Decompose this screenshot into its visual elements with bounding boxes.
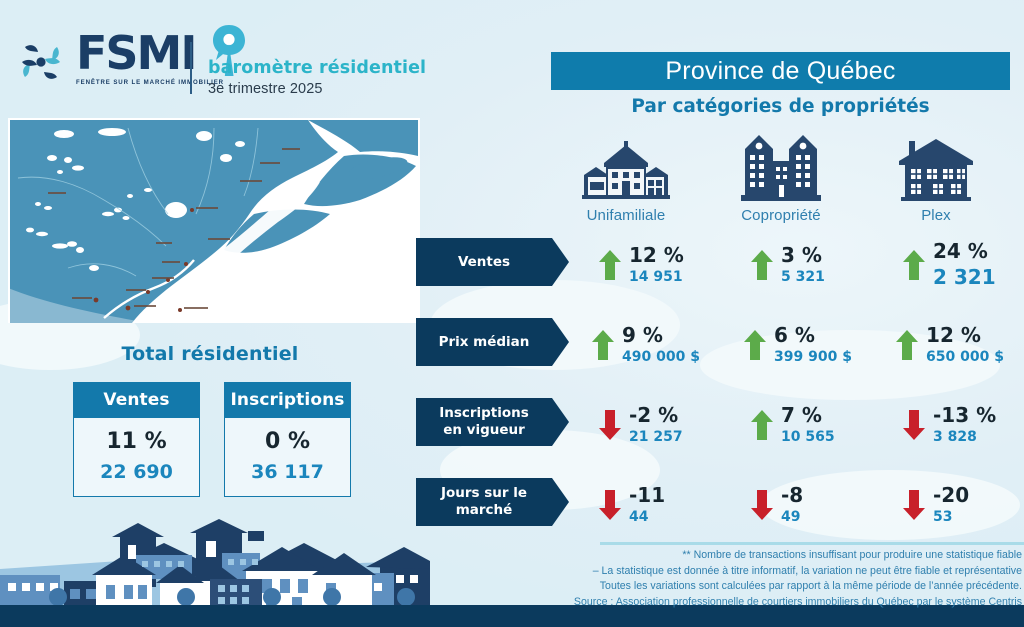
metric-cell: 24 % 2 321: [875, 238, 1024, 292]
metric-label-tag: Jours sur le marché: [416, 478, 552, 526]
metric-value: 5 321: [781, 269, 845, 285]
metric-label-tag: Inscriptions en vigueur: [416, 398, 552, 446]
footnote-line: ** Nombre de transactions insuffisant po…: [534, 548, 1022, 564]
total-card-percent: 0 %: [225, 429, 350, 454]
total-card-percent: 11 %: [74, 429, 199, 454]
footnote-line: – La statistique est donnée à titre info…: [534, 564, 1022, 580]
metric-percent: -13 %: [933, 405, 997, 426]
report-name: baromètre résidentiel: [208, 58, 426, 78]
metric-value: 44: [629, 509, 693, 525]
metric-cell: -13 % 3 828: [875, 398, 1024, 452]
footnotes: ** Nombre de transactions insuffisant po…: [534, 548, 1024, 611]
total-card-value: 36 117: [225, 461, 350, 483]
category-copropriete: Copropriété: [706, 131, 856, 224]
metric-value: 399 900 $: [774, 349, 852, 365]
category-unifamiliale: Unifamiliale: [551, 131, 701, 224]
metric-cell: -8 49: [723, 478, 873, 532]
metric-label: Prix médian: [439, 334, 530, 351]
arrow-up-icon: [751, 410, 773, 440]
total-residential-cards: Ventes 11 % 22 690 Inscriptions 0 % 36 1…: [73, 382, 351, 497]
metric-value: 21 257: [629, 429, 693, 445]
metric-percent: 12 %: [629, 245, 693, 266]
metric-cell: -20 53: [875, 478, 1024, 532]
report-period: 3e trimestre 2025: [208, 81, 426, 97]
category-label: Copropriété: [706, 207, 856, 224]
metric-percent: -8: [781, 485, 845, 506]
metric-cell: -11 44: [571, 478, 721, 532]
arrow-down-icon: [903, 410, 925, 440]
metric-label-tag: Ventes: [416, 238, 552, 286]
logo-wordmark: FSMI: [76, 30, 224, 76]
metric-percent: 24 %: [933, 241, 997, 262]
category-header-row: Unifamiliale: [551, 131, 1024, 226]
metric-label: Jours sur le marché: [434, 485, 534, 519]
metric-value: 650 000 $: [926, 349, 1004, 365]
arrow-up-icon: [592, 330, 614, 360]
arrow-up-icon: [744, 330, 766, 360]
metric-percent: 12 %: [926, 325, 1004, 346]
quebec-map-svg: [8, 118, 420, 323]
category-label: Plex: [861, 207, 1011, 224]
metric-label: Ventes: [458, 254, 510, 271]
arrow-down-icon: [599, 490, 621, 520]
metric-percent: 6 %: [774, 325, 852, 346]
metric-row-jours-sur-le-marche: Jours sur le marché -11 44 -8 49: [416, 478, 1024, 532]
apartment-building-icon: [706, 131, 856, 203]
metric-percent: 7 %: [781, 405, 845, 426]
brand-logo: FSMI FENÊTRE SUR LE MARCHÉ IMMOBILIER: [18, 30, 224, 86]
house-icon: [551, 131, 701, 203]
total-residential-title: Total résidentiel: [0, 343, 420, 365]
metric-cell: 7 % 10 565: [723, 398, 873, 452]
fsmi-pinwheel-icon: [18, 38, 64, 86]
metric-cell: -2 % 21 257: [571, 398, 721, 452]
metric-row-ventes: Ventes 12 % 14 951 3 % 5 321: [416, 238, 1024, 292]
metric-cell: 6 % 399 900 $: [723, 318, 873, 372]
metric-value: 14 951: [629, 269, 693, 285]
metric-label: Inscriptions en vigueur: [434, 405, 534, 439]
total-card-value: 22 690: [74, 461, 199, 483]
logo-tagline: FENÊTRE SUR LE MARCHÉ IMMOBILIER: [76, 79, 224, 86]
metric-percent: -2 %: [629, 405, 693, 426]
metric-percent: -11: [629, 485, 693, 506]
metric-percent: 3 %: [781, 245, 845, 266]
metric-percent: -20: [933, 485, 997, 506]
metric-row-inscriptions-en-vigueur: Inscriptions en vigueur -2 % 21 257 7 % …: [416, 398, 1024, 452]
total-card-header: Ventes: [74, 383, 199, 418]
footnote-divider: [600, 542, 1024, 545]
footnote-line: Toutes les variations sont calculées par…: [534, 579, 1022, 595]
total-card-body: 11 % 22 690: [74, 418, 199, 496]
metric-percent: 9 %: [622, 325, 700, 346]
arrow-down-icon: [751, 490, 773, 520]
category-plex: Plex: [861, 131, 1011, 224]
footnote-line: Source : Association professionnelle de …: [534, 595, 1022, 611]
metric-value: 49: [781, 509, 845, 525]
metric-value: 53: [933, 509, 997, 525]
quebec-map: [8, 118, 420, 323]
metric-value: 2 321: [933, 265, 997, 289]
total-card-header: Inscriptions: [225, 383, 350, 418]
arrow-up-icon: [896, 330, 918, 360]
arrow-up-icon: [599, 250, 621, 280]
arrow-up-icon: [903, 250, 925, 280]
total-card-body: 0 % 36 117: [225, 418, 350, 496]
metric-cell: 3 % 5 321: [723, 238, 873, 292]
arrow-down-icon: [903, 490, 925, 520]
metric-cell: 12 % 14 951: [571, 238, 721, 292]
header-divider: [190, 42, 192, 94]
infographic-page: FSMI FENÊTRE SUR LE MARCHÉ IMMOBILIER ba…: [0, 0, 1024, 627]
metric-cell: 12 % 650 000 $: [875, 318, 1024, 372]
total-card-inscriptions: Inscriptions 0 % 36 117: [224, 382, 351, 497]
province-title-bar: Province de Québec: [551, 52, 1010, 90]
metric-value: 490 000 $: [622, 349, 700, 365]
metric-label-tag: Prix médian: [416, 318, 552, 366]
arrow-up-icon: [751, 250, 773, 280]
metric-value: 3 828: [933, 429, 997, 445]
category-label: Unifamiliale: [551, 207, 701, 224]
arrow-down-icon: [599, 410, 621, 440]
category-section-title: Par catégories de propriétés: [551, 96, 1010, 117]
metric-cell: 9 % 490 000 $: [571, 318, 721, 372]
metric-value: 10 565: [781, 429, 845, 445]
province-title: Province de Québec: [665, 57, 895, 86]
report-subtitle: baromètre résidentiel 3e trimestre 2025: [208, 58, 426, 97]
total-card-ventes: Ventes 11 % 22 690: [73, 382, 200, 497]
metric-row-prix-median: Prix médian 9 % 490 000 $ 6 % 399 900 $: [416, 318, 1024, 372]
plex-building-icon: [861, 131, 1011, 203]
